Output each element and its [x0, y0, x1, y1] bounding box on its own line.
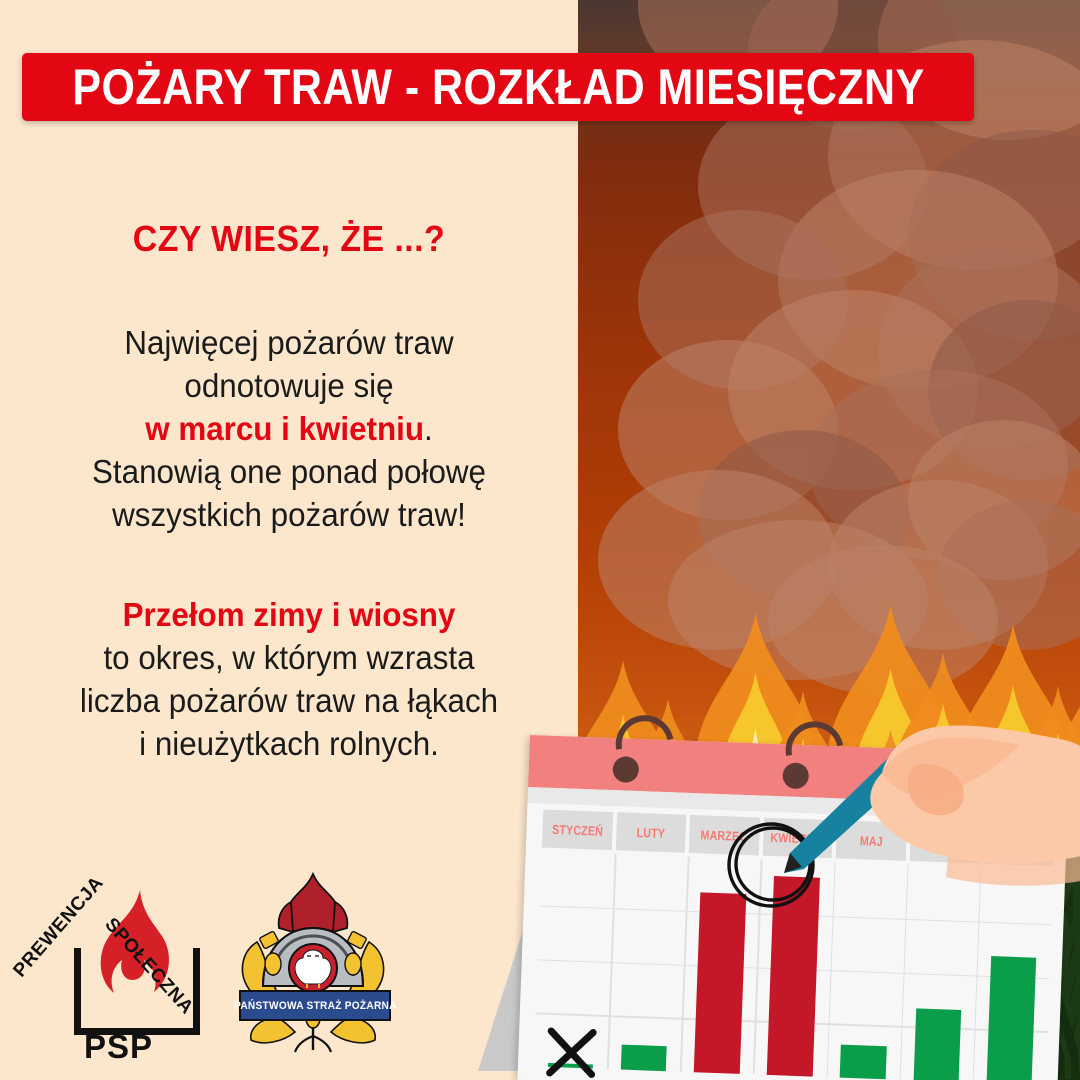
hand-icon — [796, 705, 1080, 895]
x-mark-icon — [543, 1025, 599, 1080]
bar-czerwiec[interactable] — [913, 1009, 961, 1080]
page-title: POŻARY TRAW - ROZKŁAD MIESIĘCZNY — [72, 58, 924, 116]
p1-line3: w marcu i kwietniu. — [14, 408, 563, 451]
p1-highlight: w marcu i kwietniu — [145, 410, 424, 447]
p1-line2: odnotowuje się — [14, 365, 563, 408]
fire-helmet-emblem-icon — [233, 868, 393, 1058]
panstwowa-straz-pozarna-emblem: PAŃSTWOWA STRAŻ POŻARNA — [233, 868, 393, 1058]
logo-row: PREWENCJA SPOŁECZNA PSP — [32, 868, 393, 1058]
bar-lipiec[interactable] — [986, 956, 1036, 1080]
bar-marzec[interactable] — [694, 892, 746, 1074]
bar-luty[interactable] — [621, 1045, 667, 1071]
month-cell-luty[interactable]: LUTY — [615, 812, 686, 853]
p1-line5: wszystkich pożarów traw! — [14, 494, 563, 537]
month-label: STYCZEŃ — [552, 821, 603, 838]
emblem-banner-text: PAŃSTWOWA STRAŻ POŻARNA — [234, 1000, 397, 1012]
p2-line3: liczba pożarów traw na łąkach — [14, 680, 563, 723]
infographic-poster: POŻARY TRAW - ROZKŁAD MIESIĘCZNY CZY WIE… — [0, 0, 1080, 1080]
psp-acronym: PSP — [84, 1028, 153, 1066]
p2-line4: i nieużytkach rolnych. — [14, 723, 563, 766]
grid-line-vertical — [972, 868, 981, 1080]
p2-line2: to okres, w którym wzrasta — [14, 637, 563, 680]
emblem-banner: PAŃSTWOWA STRAŻ POŻARNA — [239, 990, 391, 1021]
title-banner: POŻARY TRAW - ROZKŁAD MIESIĘCZNY — [22, 53, 974, 121]
p1-line3-tail: . — [424, 410, 433, 447]
copy-block: CZY WIESZ, ŻE ...? Najwięcej pożarów tra… — [0, 218, 578, 766]
calendar-widget: STYCZEŃLUTYMARZECKWIECIEŃMAJCZERWIECLIPI… — [470, 735, 1080, 1080]
p2-highlight: Przełom zimy i wiosny — [14, 594, 563, 637]
month-label: LUTY — [636, 824, 665, 840]
paragraph-two: Przełom zimy i wiosny to okres, w którym… — [14, 594, 563, 766]
p1-line1: Najwięcej pożarów traw — [14, 322, 563, 365]
bar-maj[interactable] — [840, 1045, 887, 1079]
p1-line4: Stanowią one ponad połowę — [14, 451, 563, 494]
psp-prevention-logo: PREWENCJA SPOŁECZNA PSP — [32, 868, 207, 1058]
kicker-text: CZY WIESZ, ŻE ...? — [17, 218, 560, 260]
paragraph-one: Najwięcej pożarów traw odnotowuje się w … — [14, 322, 563, 536]
month-cell-styczeń[interactable]: STYCZEŃ — [542, 810, 613, 851]
